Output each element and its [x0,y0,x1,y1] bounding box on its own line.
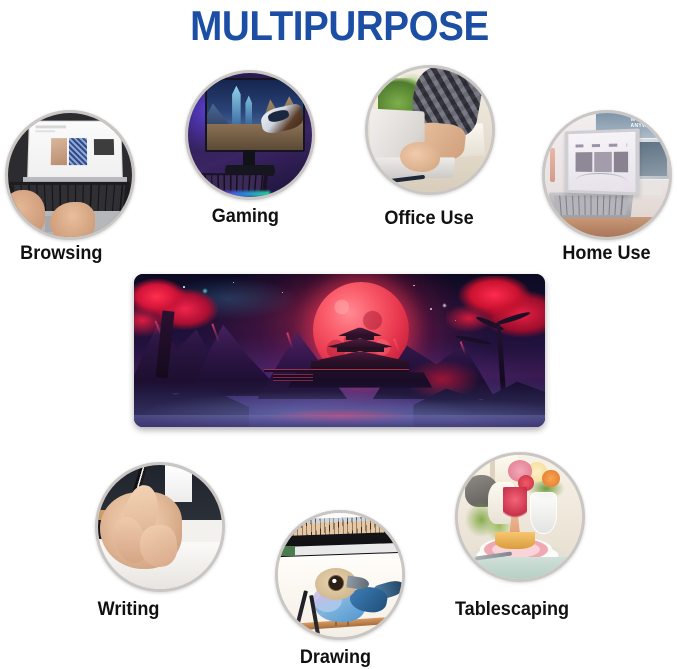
feature-label-home-use: Home Use [562,243,650,264]
feature-label-writing: Writing [98,599,160,620]
feature-tablescaping[interactable] [455,452,587,584]
poster-text: WORK ANYWHERE [631,117,663,129]
browsing-photo-circle [5,110,135,240]
laptop-browsing-photo [8,113,132,237]
office-photo-circle [365,65,495,195]
feature-writing[interactable] [95,462,227,594]
feature-home-use[interactable]: WORK ANYWHERE [542,110,674,242]
home-photo-circle: WORK ANYWHERE [542,110,672,240]
hand-writing-photo [98,465,222,589]
tablescaping-photo-circle [455,452,585,582]
colored-pencils-bird-drawing-photo [278,513,402,637]
feature-label-browsing: Browsing [20,243,102,264]
feature-gaming[interactable] [185,70,317,202]
feature-office-use[interactable] [365,65,497,197]
feature-label-tablescaping: Tablescaping [455,599,569,620]
feature-drawing[interactable] [275,510,407,642]
drawing-photo-circle [275,510,405,640]
feature-browsing[interactable] [5,110,137,242]
gaming-photo-circle [185,70,315,200]
feature-label-office-use: Office Use [384,208,473,229]
floral-table-setting-photo [458,455,582,579]
feature-label-gaming: Gaming [212,206,279,227]
page-title: MULTIPURPOSE [27,2,652,50]
product-mousepad[interactable] [134,274,545,427]
gaming-monitor-photo [188,73,312,197]
feature-label-drawing: Drawing [300,647,371,668]
home-desk-photo: WORK ANYWHERE [545,113,669,237]
office-laptop-photo [368,68,492,192]
writing-photo-circle [95,462,225,592]
mousepad-artwork [134,274,545,427]
